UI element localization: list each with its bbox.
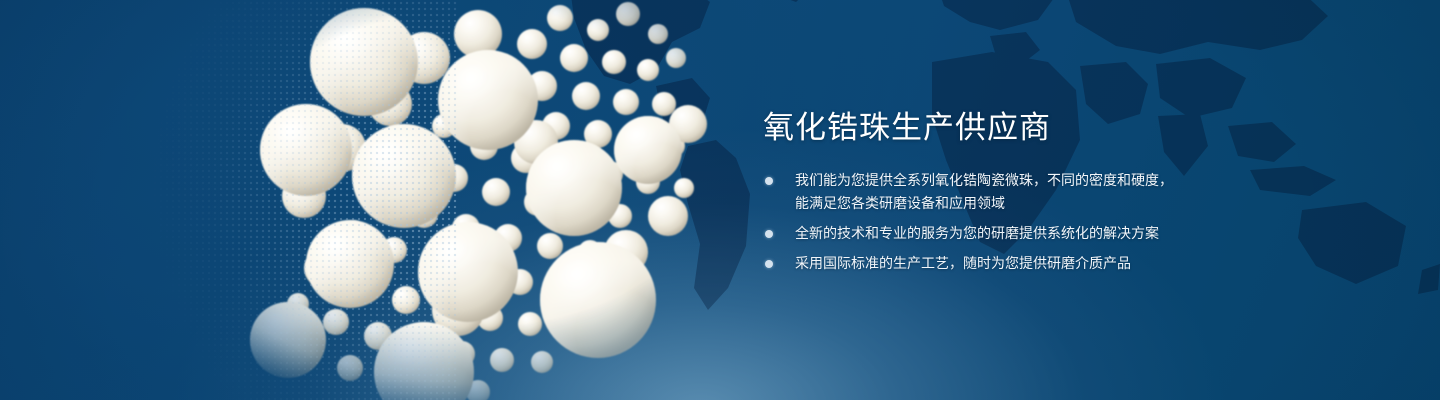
beads-illustration xyxy=(128,0,728,400)
bullet-line: 采用国际标准的生产工艺，随时为您提供研磨介质产品 xyxy=(795,252,1243,275)
bullet-dot-icon xyxy=(765,177,773,185)
bullet-dot-icon xyxy=(765,260,773,268)
bullet-line: 我们能为您提供全系列氧化锆陶瓷微珠，不同的密度和硬度， xyxy=(795,169,1243,192)
feature-bullet-list: 我们能为您提供全系列氧化锆陶瓷微珠，不同的密度和硬度， 能满足您各类研磨设备和应… xyxy=(763,169,1243,275)
page-title: 氧化锆珠生产供应商 xyxy=(763,108,1243,148)
zirconia-beads-photo xyxy=(128,0,728,400)
list-item: 采用国际标准的生产工艺，随时为您提供研磨介质产品 xyxy=(763,252,1243,275)
bullet-line: 能满足您各类研磨设备和应用领域 xyxy=(795,192,1243,215)
hero-banner: 氧化锆珠生产供应商 我们能为您提供全系列氧化锆陶瓷微珠，不同的密度和硬度， 能满… xyxy=(0,0,1440,400)
list-item: 我们能为您提供全系列氧化锆陶瓷微珠，不同的密度和硬度， 能满足您各类研磨设备和应… xyxy=(763,169,1243,215)
bullet-line: 全新的技术和专业的服务为您的研磨提供系统化的解决方案 xyxy=(795,222,1243,245)
list-item: 全新的技术和专业的服务为您的研磨提供系统化的解决方案 xyxy=(763,222,1243,245)
bullet-dot-icon xyxy=(765,230,773,238)
banner-copy-block: 氧化锆珠生产供应商 我们能为您提供全系列氧化锆陶瓷微珠，不同的密度和硬度， 能满… xyxy=(763,108,1243,275)
